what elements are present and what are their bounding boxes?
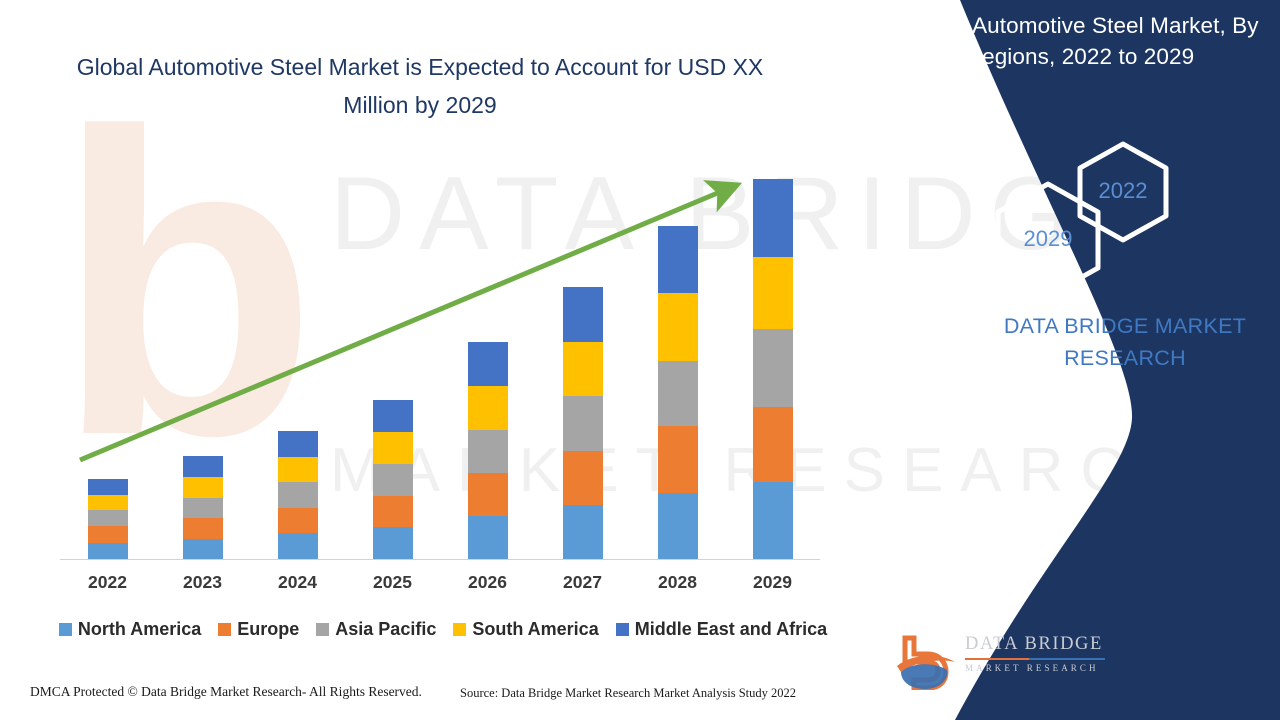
bar-segment [468, 386, 508, 430]
bar-segment [658, 226, 698, 293]
bar-segment [278, 457, 318, 483]
bar-segment [563, 396, 603, 450]
hexagon-2029: 2029 [993, 180, 1103, 300]
x-axis-label-2022: 2022 [73, 572, 143, 593]
bar-segment [183, 477, 223, 497]
bar-segment [468, 516, 508, 559]
logo-divider [965, 658, 1105, 660]
legend-label: Asia Pacific [335, 619, 436, 640]
x-axis-label-2029: 2029 [738, 572, 808, 593]
bar-2022 [88, 479, 128, 559]
x-axis-line [60, 559, 820, 560]
legend-item[interactable]: Europe [218, 619, 299, 640]
source-footer: Source: Data Bridge Market Research Mark… [460, 686, 796, 701]
hexagon-2029-label: 2029 [993, 226, 1103, 252]
legend-item[interactable]: Asia Pacific [316, 619, 436, 640]
bar-segment [658, 493, 698, 559]
chart-legend: North AmericaEuropeAsia PacificSouth Ame… [48, 616, 838, 642]
bar-segment [753, 329, 793, 407]
bar-segment [278, 482, 318, 508]
bar-segment [753, 482, 793, 559]
bar-segment [468, 430, 508, 473]
bar-2029 [753, 179, 793, 559]
legend-label: Middle East and Africa [635, 619, 827, 640]
legend-item[interactable]: South America [453, 619, 598, 640]
hexagon-badges: 2022 2029 [975, 140, 1195, 290]
logo-line-2: MARKET RESEARCH [965, 663, 1110, 673]
bar-segment [183, 456, 223, 477]
legend-swatch-icon [59, 623, 72, 636]
bar-2023 [183, 456, 223, 559]
x-axis-label-2025: 2025 [358, 572, 428, 593]
bar-segment [563, 287, 603, 342]
bar-segment [278, 533, 318, 559]
bar-segment [658, 361, 698, 426]
legend-item[interactable]: North America [59, 619, 201, 640]
bar-segment [183, 518, 223, 538]
bar-segment [183, 498, 223, 518]
x-axis-label-2028: 2028 [643, 572, 713, 593]
legend-item[interactable]: Middle East and Africa [616, 619, 827, 640]
bar-segment [88, 495, 128, 510]
dmca-footer: DMCA Protected © Data Bridge Market Rese… [30, 684, 422, 700]
legend-label: North America [78, 619, 201, 640]
bar-segment [88, 543, 128, 559]
bar-segment [373, 400, 413, 433]
bar-2028 [658, 226, 698, 559]
x-axis-label-2026: 2026 [453, 572, 523, 593]
logo-line-1: DATA BRIDGE [965, 634, 1110, 655]
bar-segment [88, 510, 128, 526]
bar-segment [278, 431, 318, 457]
bar-segment [88, 526, 128, 542]
legend-swatch-icon [616, 623, 629, 636]
dbmr-logo: DATA BRIDGE MARKET RESEARCH [895, 632, 1105, 692]
legend-label: Europe [237, 619, 299, 640]
bar-segment [753, 179, 793, 258]
chart-title: Global Automotive Steel Market is Expect… [60, 48, 780, 124]
bar-segment [563, 342, 603, 396]
bar-segment [373, 464, 413, 496]
bar-2026 [468, 342, 508, 559]
bar-segment [373, 496, 413, 528]
bar-segment [278, 508, 318, 534]
legend-swatch-icon [453, 623, 466, 636]
bar-segment [468, 342, 508, 386]
bar-segment [183, 539, 223, 559]
bar-segment [88, 479, 128, 494]
bar-segment [753, 257, 793, 329]
bar-segment [373, 432, 413, 464]
bar-segment [753, 407, 793, 483]
legend-swatch-icon [316, 623, 329, 636]
bar-segment [658, 293, 698, 360]
legend-label: South America [472, 619, 598, 640]
panel-title: Global Automotive Steel Market, By Regio… [890, 10, 1270, 72]
dbmr-logo-mark-icon [895, 632, 957, 690]
legend-swatch-icon [218, 623, 231, 636]
bar-segment [373, 527, 413, 559]
bar-segment [658, 426, 698, 492]
dbmr-logo-wordmark: DATA BRIDGE MARKET RESEARCH [965, 634, 1110, 673]
bar-2027 [563, 287, 603, 559]
bar-2024 [278, 431, 318, 559]
x-axis-label-2027: 2027 [548, 572, 618, 593]
bar-segment [468, 473, 508, 516]
bar-segment [563, 451, 603, 505]
bar-segment [563, 505, 603, 559]
x-axis-label-2024: 2024 [263, 572, 333, 593]
brand-name: DATA BRIDGE MARKET RESEARCH [950, 310, 1280, 374]
infographic-canvas: b DATA BRIDGE MARKET RESEARCH Global Aut… [0, 0, 1280, 720]
chart-plot-area [60, 150, 820, 560]
bar-2025 [373, 400, 413, 559]
x-axis-label-2023: 2023 [168, 572, 238, 593]
x-axis-labels: 20222023202420252026202720282029 [60, 572, 820, 598]
